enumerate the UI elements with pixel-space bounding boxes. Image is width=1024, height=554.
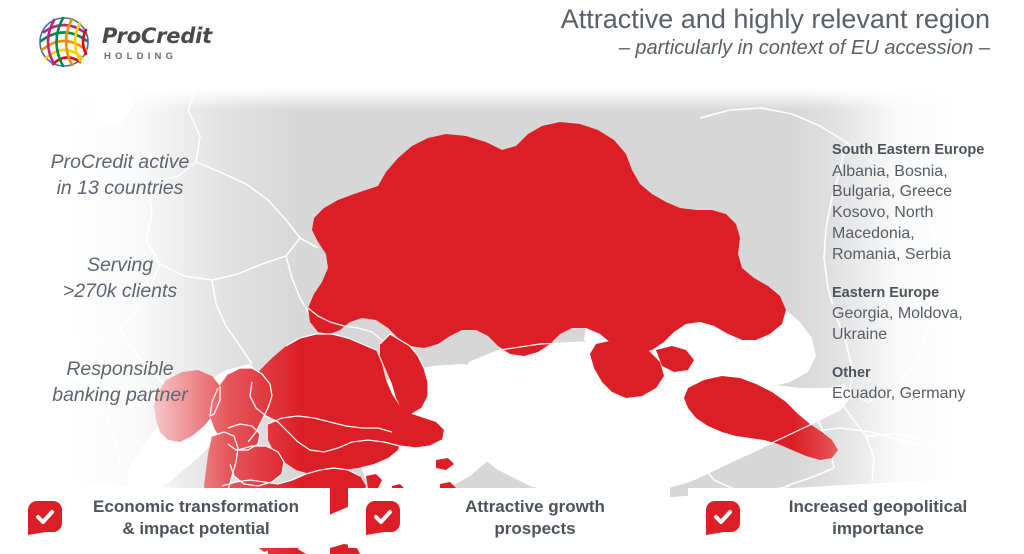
slide-header: ProCredit HOLDING Attractive and highly … (0, 0, 1024, 88)
banner-item-geopolitical-importance[interactable]: Increased geopolitical importance (678, 490, 1024, 546)
banner-label-line: Attractive growth (402, 496, 668, 518)
stat-line: in 13 countries (14, 176, 226, 202)
country-group-other: Other Ecuador, Germany (832, 363, 1018, 405)
stat-line: Serving (14, 253, 226, 279)
check-badge-icon (366, 501, 400, 535)
country-line: Ecuador, Germany (832, 384, 1018, 405)
banner-label: Economic transformation & impact potenti… (62, 496, 338, 540)
banner-label-line: importance (742, 518, 1014, 540)
country-group-south-eastern-europe: South Eastern Europe Albania, Bosnia, Bu… (832, 140, 1018, 266)
logo-brand-sub: HOLDING (104, 52, 212, 62)
bottom-banner: Economic transformation & impact potenti… (0, 482, 1024, 554)
country-group-list: Albania, Bosnia, Bulgaria, Greece Kosovo… (832, 162, 1018, 266)
banner-item-economic-transformation[interactable]: Economic transformation & impact potenti… (0, 490, 338, 546)
country-group-heading: Eastern Europe (832, 283, 1018, 304)
country-line: Georgia, Moldova, (832, 304, 1018, 325)
left-stats: ProCredit active in 13 countries Serving… (14, 150, 226, 408)
logo-text: ProCredit HOLDING (102, 22, 212, 62)
stat-line: >270k clients (14, 279, 226, 305)
page-title-block: Attractive and highly relevant region – … (561, 4, 990, 60)
country-line: Kosovo, North (832, 203, 1018, 224)
stat-block-clients: Serving >270k clients (14, 253, 226, 304)
banner-label-line: Economic transformation (64, 496, 328, 518)
banner-label: Attractive growth prospects (400, 496, 678, 540)
slide-root: .land { fill:#D7D7D7; } .water { fill:#F… (0, 0, 1024, 554)
banner-item-attractive-growth[interactable]: Attractive growth prospects (338, 490, 678, 546)
country-group-list: Georgia, Moldova, Ukraine (832, 304, 1018, 346)
stat-block-partner: Responsible banking partner (14, 357, 226, 408)
banner-label-line: & impact potential (64, 518, 328, 540)
banner-label-line: prospects (402, 518, 668, 540)
country-group-heading: Other (832, 363, 1018, 384)
country-line: Albania, Bosnia, (832, 162, 1018, 183)
stat-line: ProCredit active (14, 150, 226, 176)
page-subtitle: – particularly in context of EU accessio… (561, 37, 990, 60)
check-badge-icon (706, 501, 740, 535)
stat-line: banking partner (14, 383, 226, 409)
logo-brand-name: ProCredit (102, 26, 212, 47)
stat-block-countries: ProCredit active in 13 countries (14, 150, 226, 201)
check-badge-icon (28, 501, 62, 535)
stat-line: Responsible (14, 357, 226, 383)
country-line: Ukraine (832, 325, 1018, 346)
procredit-globe-logo-icon (36, 14, 92, 70)
country-group-eastern-europe: Eastern Europe Georgia, Moldova, Ukraine (832, 283, 1018, 346)
procredit-logo[interactable]: ProCredit HOLDING (36, 14, 212, 70)
country-line: Romania, Serbia (832, 245, 1018, 266)
country-line: Macedonia, (832, 224, 1018, 245)
banner-label: Increased geopolitical importance (740, 496, 1024, 540)
country-panel: South Eastern Europe Albania, Bosnia, Bu… (832, 140, 1018, 405)
banner-label-line: Increased geopolitical (742, 496, 1014, 518)
country-group-heading: South Eastern Europe (832, 140, 1018, 161)
country-group-list: Ecuador, Germany (832, 384, 1018, 405)
country-line: Bulgaria, Greece (832, 182, 1018, 203)
page-title: Attractive and highly relevant region (561, 4, 990, 35)
